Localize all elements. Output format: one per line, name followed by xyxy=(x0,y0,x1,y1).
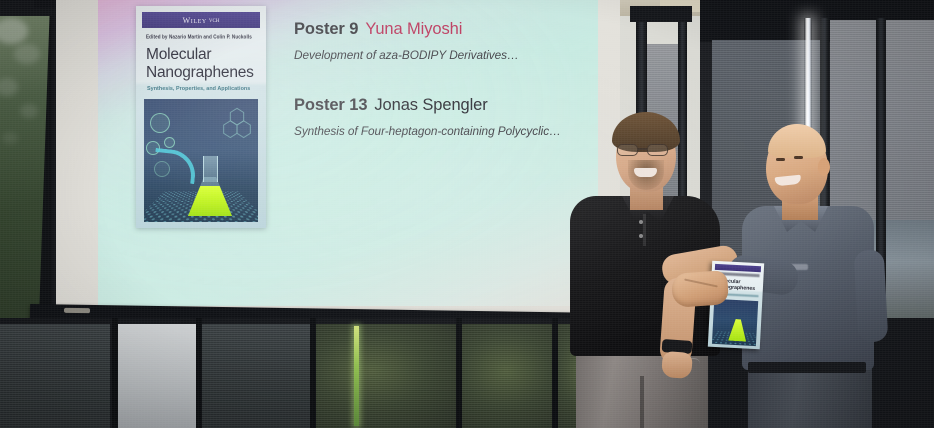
presenter-eye-left xyxy=(776,158,785,161)
lower-window-panel-2 xyxy=(316,324,456,428)
book-title-line-1: Molecular xyxy=(146,46,260,64)
book-title-line-2: Nanographenes xyxy=(146,64,260,82)
lower-window-stone-panel xyxy=(118,324,196,428)
recipient-button-2 xyxy=(639,234,643,238)
narrow-window-mullion-2 xyxy=(678,14,687,204)
publisher-name: WileyVCH xyxy=(183,16,220,25)
recipient-button-1 xyxy=(639,220,643,224)
recipient-placket xyxy=(643,214,646,246)
lower-window-panel-0 xyxy=(0,324,110,428)
erlenmeyer-flask xyxy=(188,154,232,216)
slide-entry-poster-9: Poster 9Yuna Miyoshi Development of aza-… xyxy=(294,20,519,62)
entry-1-heading: Poster 9Yuna Miyoshi xyxy=(294,20,519,39)
publisher-imprint: VCH xyxy=(209,19,220,24)
lower-window-panel-1 xyxy=(202,324,310,428)
conference-award-photo: WileyVCH Edited by Nazario Martín and Co… xyxy=(0,0,934,428)
slide-book-cover: WileyVCH Edited by Nazario Martín and Co… xyxy=(136,6,266,228)
entry-2-winner-name: Jonas Spengler xyxy=(374,96,487,114)
held-book-artwork xyxy=(712,299,758,346)
recipient-smile xyxy=(634,168,657,177)
book-cover-artwork xyxy=(144,99,258,222)
screen-pull-handle[interactable] xyxy=(64,308,90,313)
projection-screen: WileyVCH Edited by Nazario Martín and Co… xyxy=(34,0,620,330)
recipient-trouser-seam xyxy=(640,376,644,428)
presenter-trousers xyxy=(748,368,872,428)
book-title: Molecular Nanographenes xyxy=(146,46,260,83)
entry-1-award-label: Poster 9 xyxy=(294,20,358,38)
entry-2-talk-title: Synthesis of Four-heptagon-containing Po… xyxy=(294,124,561,138)
entry-2-heading: Poster 13Jonas Spengler xyxy=(294,96,561,115)
held-book-publisher-band xyxy=(715,264,761,272)
lower-window-light-gap xyxy=(354,326,359,426)
entry-1-talk-title: Development of aza-BODIPY Derivatives… xyxy=(294,48,519,62)
entry-2-award-label: Poster 13 xyxy=(294,96,367,114)
wiley-logo-band: WileyVCH xyxy=(142,12,260,28)
presenter-belt xyxy=(748,362,866,373)
presenter-ear xyxy=(818,158,830,176)
projected-slide: WileyVCH Edited by Nazario Martín and Co… xyxy=(98,0,598,306)
book-subtitle: Synthesis, Properties, and Applications xyxy=(147,86,260,92)
recipient-left-hand xyxy=(661,351,693,379)
held-book-flask xyxy=(728,319,747,342)
slide-entry-poster-13: Poster 13Jonas Spengler Synthesis of Fou… xyxy=(294,96,561,138)
recipient-glasses-icon xyxy=(617,144,673,156)
molecule-structure-icon xyxy=(220,105,254,145)
presenter-far-arm xyxy=(854,249,889,342)
presenter-eye-right xyxy=(794,156,803,159)
handshake xyxy=(671,270,729,308)
narrow-window-head xyxy=(630,6,692,22)
book-editors: Edited by Nazario Martín and Colin P. Nu… xyxy=(146,34,258,40)
entry-1-winner-name: Yuna Miyoshi xyxy=(365,20,462,38)
